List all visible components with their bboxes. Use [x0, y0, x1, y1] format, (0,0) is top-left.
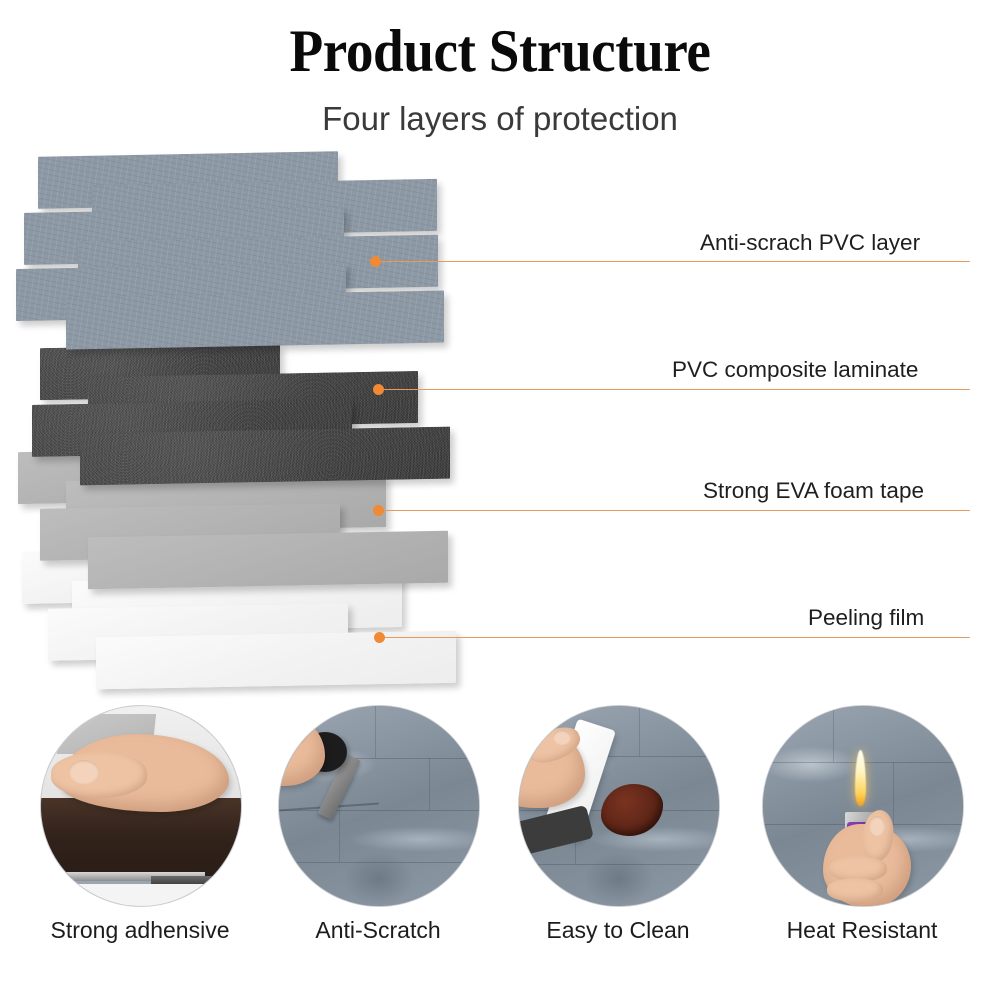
callout-dot-2: [373, 384, 384, 395]
feature-clean: Easy to Clean: [518, 705, 718, 905]
callout-dot-1: [370, 256, 381, 267]
feature-caption-clean: Easy to Clean: [488, 917, 748, 944]
callout-label-3: Strong EVA foam tape: [703, 478, 924, 504]
callout-line-2: [381, 389, 970, 390]
page-title: Product Structure: [40, 17, 960, 86]
lighter-flame-icon: [762, 705, 964, 907]
page-subtitle: Four layers of protection: [0, 100, 1000, 138]
key-scratching-tile-icon: [278, 705, 480, 907]
feature-scratch: Anti-Scratch: [278, 705, 478, 905]
callout-label-4: Peeling film: [808, 605, 924, 631]
hand-pressing-tile-icon: [40, 705, 242, 907]
feature-heat: Heat Resistant: [762, 705, 962, 905]
feature-caption-scratch: Anti-Scratch: [248, 917, 508, 944]
callout-line-3: [381, 510, 970, 511]
callout-label-1: Anti-scrach PVC layer: [700, 230, 920, 256]
layer-stack-diagram: [0, 150, 520, 670]
callout-label-2: PVC composite laminate: [672, 357, 918, 383]
feature-caption-heat: Heat Resistant: [732, 917, 992, 944]
callout-dot-4: [374, 632, 385, 643]
towel-wiping-stain-icon: [518, 705, 720, 907]
infographic-page: Product Structure Four layers of protect…: [0, 0, 1000, 1000]
stack-layer-marble: [0, 150, 520, 670]
callout-line-4: [382, 637, 970, 638]
callout-line-1: [378, 261, 970, 262]
callout-dot-3: [373, 505, 384, 516]
feature-caption-adhesive: Strong adhensive: [10, 917, 270, 944]
feature-adhesive: Strong adhensive: [40, 705, 240, 905]
